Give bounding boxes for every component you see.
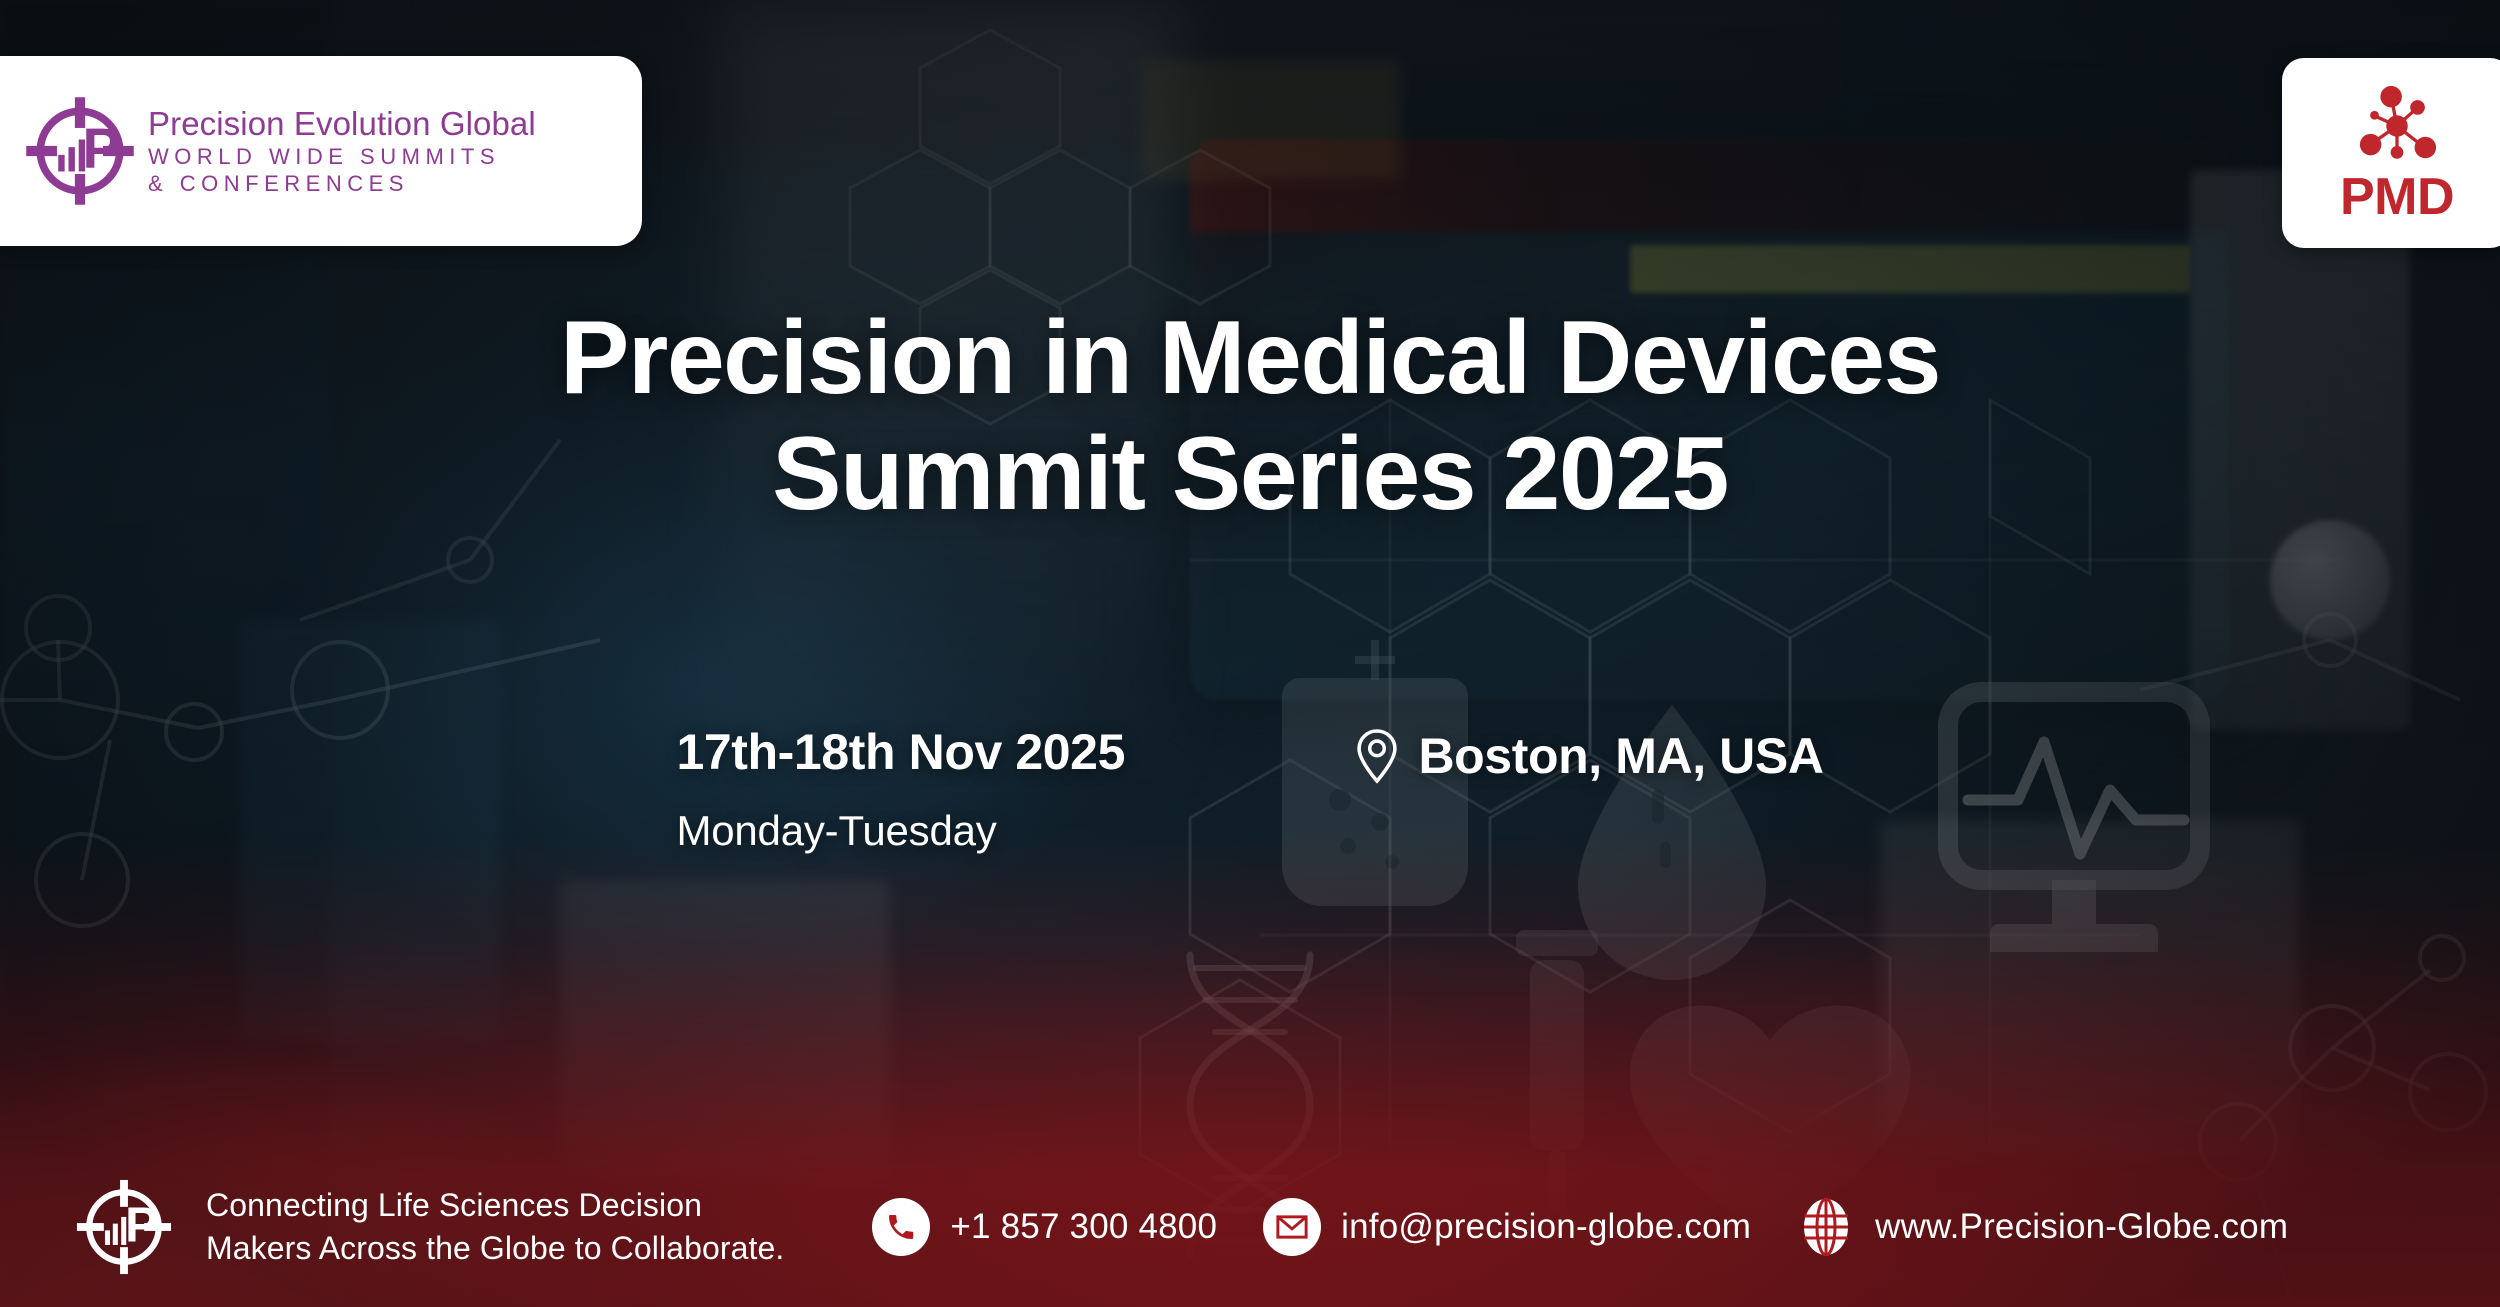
footer-brand: P Connecting Life Sciences Decision Make… [0,1171,784,1283]
organizer-subtitle-line-2: & CONFERENCES [148,173,536,195]
contact-phone-text: +1 857 300 4800 [950,1207,1217,1247]
organizer-logo-card[interactable]: P Precision Evolution Global WORLD WIDE … [0,56,642,246]
event-dates-block: 17th-18th Nov 2025 Monday-Tuesday [676,725,1196,854]
event-meta: 17th-18th Nov 2025 Monday-Tuesday Boston… [0,725,2500,854]
phone-icon [872,1198,930,1256]
event-title-line-2: Summit Series 2025 [0,416,2500,532]
email-icon [1263,1198,1321,1256]
precision-target-logo-icon-footer: P [68,1171,180,1283]
molecule-node-logo-icon [2348,83,2446,169]
svg-text:P: P [83,117,121,180]
footer-tagline: Connecting Life Sciences Decision Makers… [206,1184,784,1270]
footer-tagline-line-1: Connecting Life Sciences Decision [206,1184,784,1227]
event-location-block: Boston, MA, USA [1354,725,1823,785]
contact-email[interactable]: info@precision-globe.com [1263,1198,1751,1256]
contact-phone[interactable]: +1 857 300 4800 [872,1198,1217,1256]
event-title-line-1: Precision in Medical Devices [0,300,2500,416]
globe-icon [1797,1198,1855,1256]
hero-section: Precision in Medical Devices Summit Seri… [0,300,2500,533]
event-location: Boston, MA, USA [1418,727,1823,785]
precision-target-logo-icon: P [16,87,144,215]
organizer-logo-text: Precision Evolution Global WORLD WIDE SU… [148,107,536,196]
event-banner: P Precision Evolution Global WORLD WIDE … [0,0,2500,1307]
contact-website[interactable]: www.Precision-Globe.com [1797,1198,2288,1256]
footer-bar: P Connecting Life Sciences Decision Make… [0,1147,2500,1307]
map-pin-icon [1354,728,1400,784]
footer-tagline-line-2: Makers Across the Globe to Collaborate. [206,1227,784,1270]
footer-contacts: +1 857 300 4800 info@precision-globe.com [872,1198,2288,1256]
pmd-logo-card[interactable]: PMD [2282,58,2500,248]
svg-text:P: P [125,1198,158,1253]
event-weekdays: Monday-Tuesday [676,808,1196,854]
contact-email-text: info@precision-globe.com [1341,1207,1751,1247]
contact-website-text: www.Precision-Globe.com [1875,1207,2288,1247]
event-title: Precision in Medical Devices Summit Seri… [0,300,2500,533]
event-date: 17th-18th Nov 2025 [676,725,1196,780]
organizer-name: Precision Evolution Global [148,107,536,141]
organizer-subtitle-line-1: WORLD WIDE SUMMITS [148,146,536,168]
pmd-wordmark: PMD [2340,171,2454,223]
